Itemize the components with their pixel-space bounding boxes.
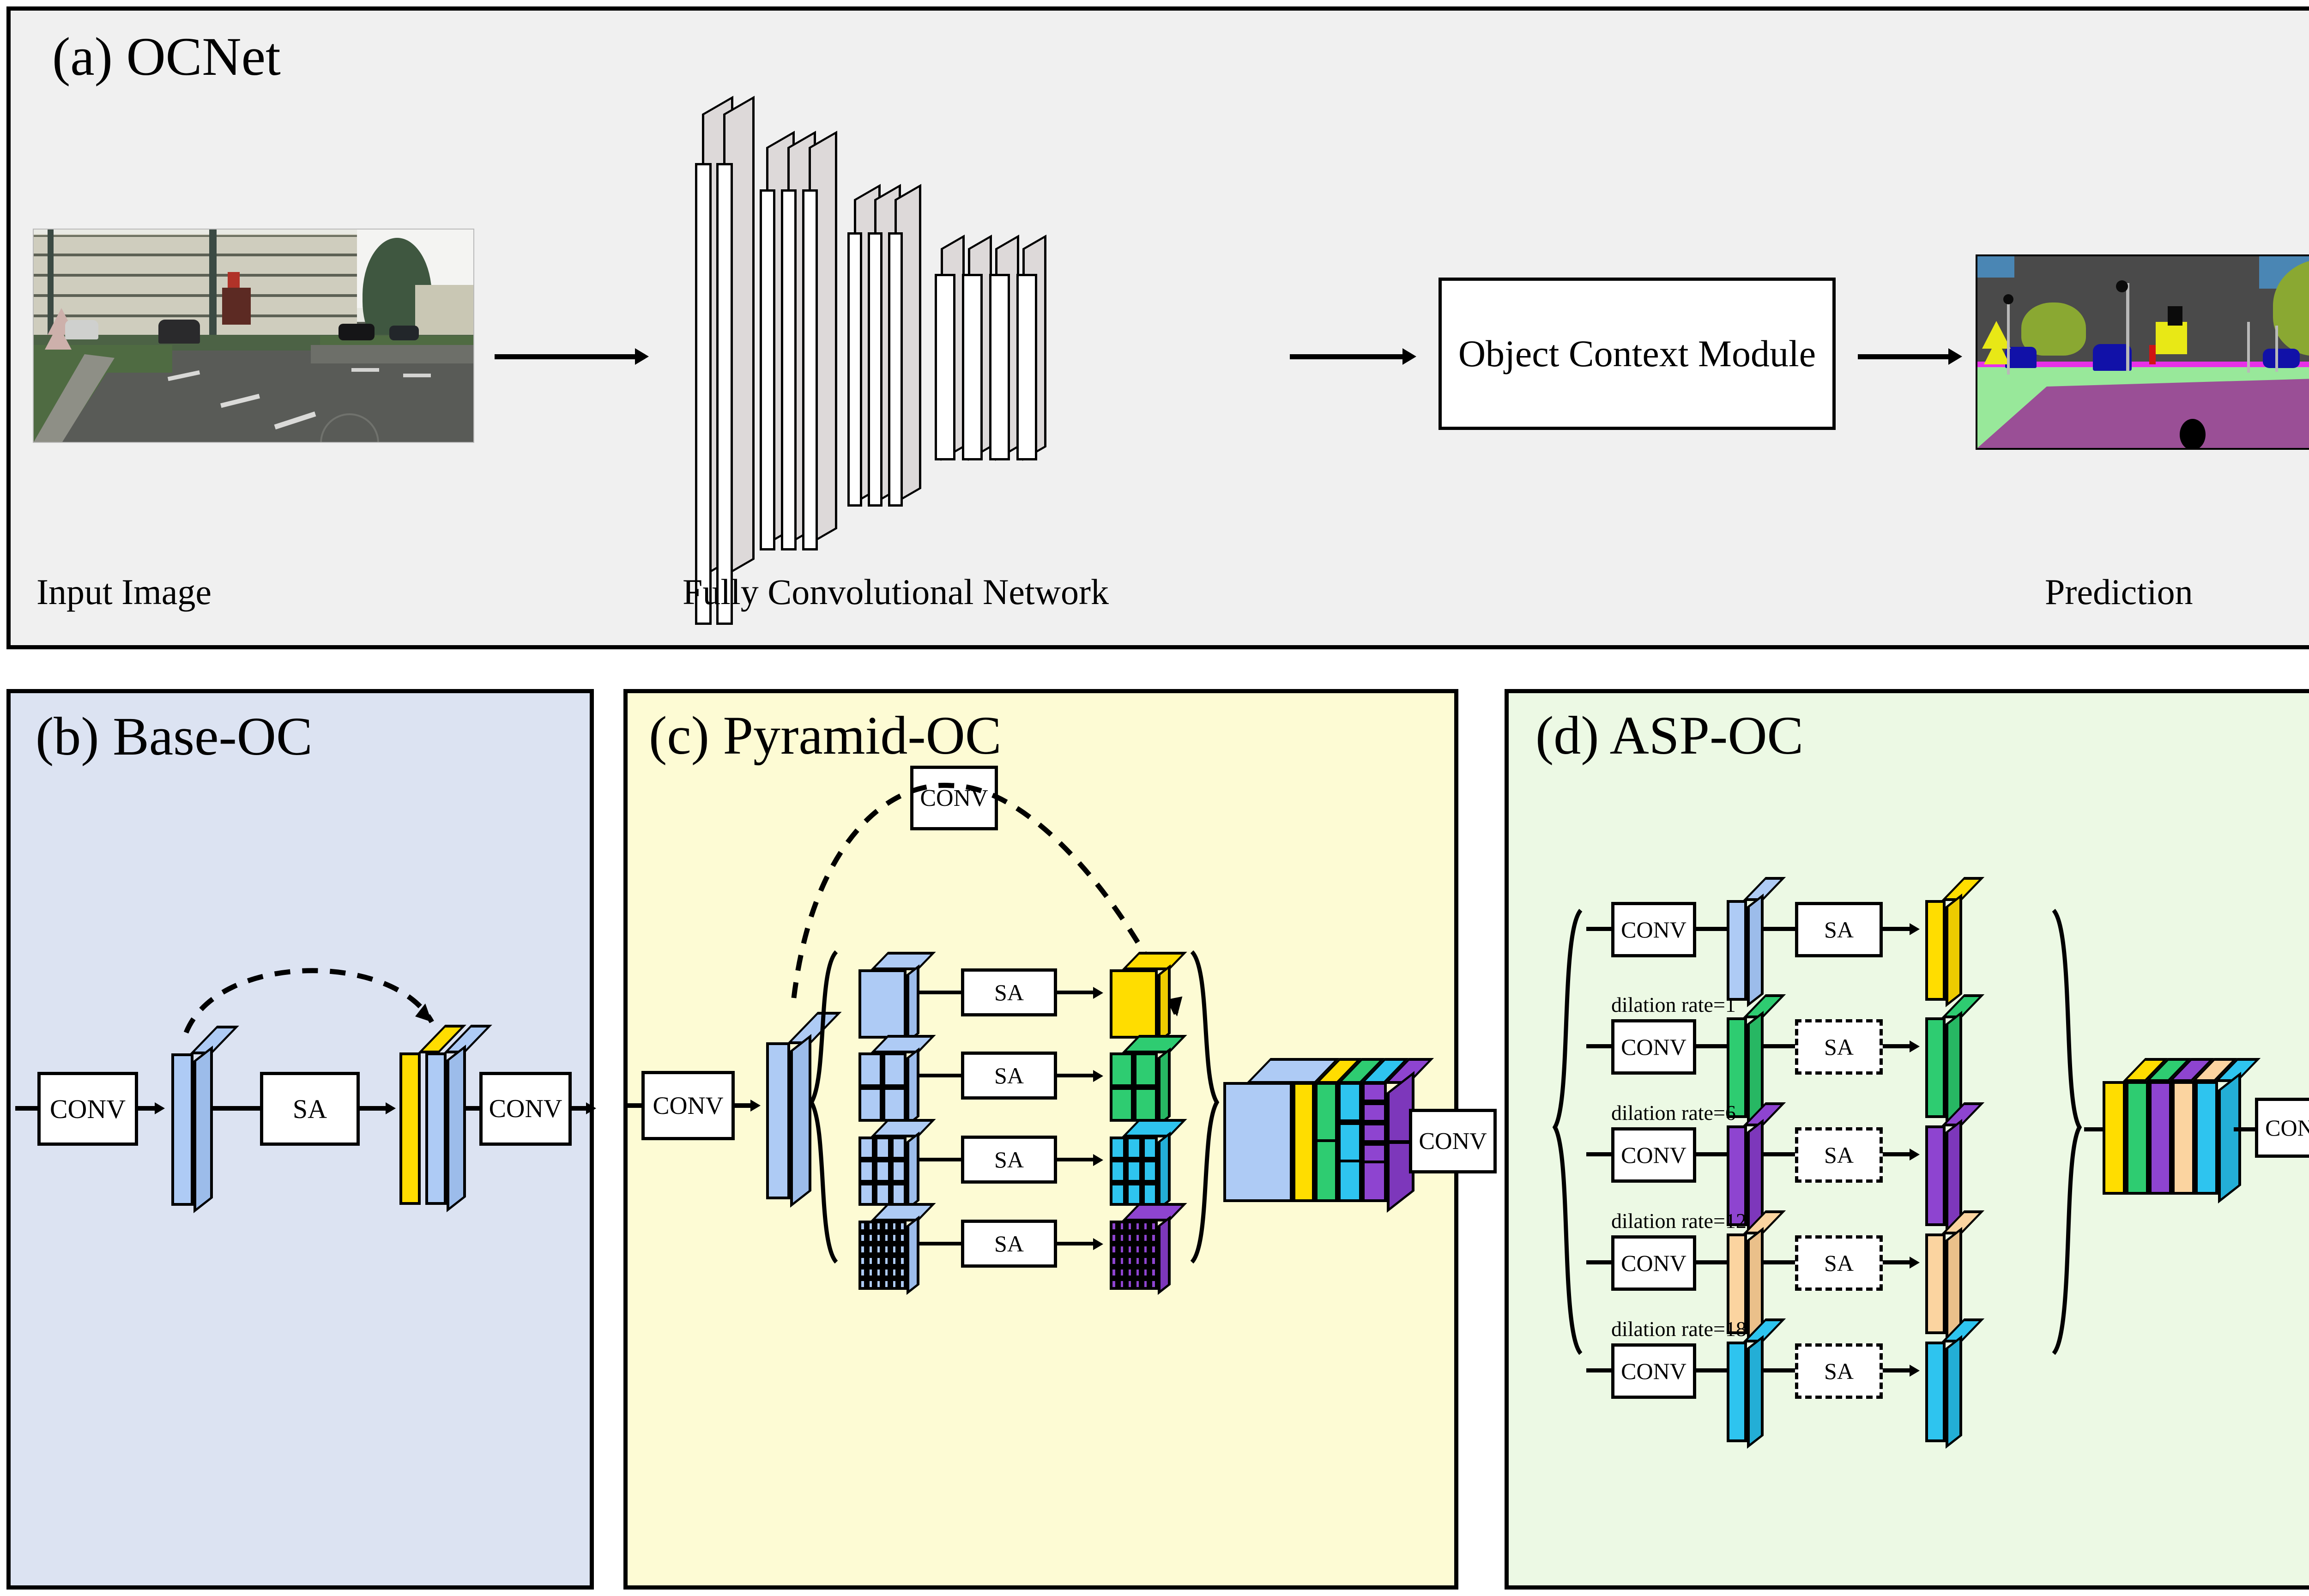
pyramid-branch2-sa[interactable]: SA	[961, 1052, 1057, 1100]
arrow-input-to-fcn-line	[495, 354, 638, 359]
fcn-slab-d1-face	[935, 274, 955, 460]
pyramid-oc-arrow-in-head	[750, 1100, 761, 1112]
pyramid-branch3-sa[interactable]: SA	[961, 1136, 1057, 1184]
asp-branch5-stub	[1586, 1368, 1613, 1372]
base-oc-arrow3-head	[386, 1102, 396, 1114]
asp-branch1-conv[interactable]: CONV	[1611, 902, 1696, 957]
fcn-slab-a2-face	[716, 163, 733, 625]
asp-branch3-head	[1910, 1149, 1920, 1161]
asp-branch2-sa[interactable]: SA	[1795, 1019, 1883, 1075]
pyramid-oc-left-brace	[811, 952, 836, 1262]
asp-branch4-sa-label: SA	[1824, 1250, 1854, 1276]
pyramid-oc-arrow-in-line	[735, 1103, 752, 1108]
arrow-ocm-to-pred-head	[1948, 348, 1962, 365]
pyramid-branch4-sa[interactable]: SA	[961, 1220, 1057, 1268]
asp-branch5-conv-label: CONV	[1621, 1358, 1686, 1384]
asp-branch2-sa-label: SA	[1824, 1034, 1854, 1060]
fcn-slab-c2-face	[868, 232, 882, 507]
panel-asp-oc: (d) ASP-OC CONV SA dilation rate=1 CONV …	[1505, 689, 2309, 1590]
asp-branch1-sa[interactable]: SA	[1795, 902, 1883, 957]
asp-branch2-conv-label: CONV	[1621, 1034, 1686, 1060]
asp-concat-in-line	[2084, 1127, 2103, 1131]
prediction-segmentation-map	[1976, 254, 2309, 450]
asp-oc-output-conv-label: CONV	[2265, 1114, 2309, 1141]
panel-ocnet: (a) OCNet Input Image	[6, 6, 2309, 649]
base-oc-conv1-label: CONV	[50, 1094, 126, 1124]
pyramid-branch1-line2	[1057, 991, 1095, 994]
asp-branch5-line3	[1883, 1368, 1911, 1372]
input-image-photo	[33, 229, 474, 443]
pyramid-branch2-line2	[1057, 1074, 1095, 1077]
asp-branch3-dilation-label: dilation rate=6	[1611, 1100, 1736, 1125]
pyramid-oc-input-stub	[628, 1103, 642, 1108]
panel-c-title: (c) Pyramid-OC	[649, 704, 1002, 767]
pyramid-oc-input-conv-label: CONV	[653, 1091, 723, 1120]
pyramid-branch2-sa-label: SA	[994, 1062, 1024, 1089]
pyramid-branch2-line1	[919, 1074, 963, 1077]
pyramid-branch4-sa-label: SA	[994, 1230, 1024, 1257]
pyramid-oc-output-conv-label: CONV	[1419, 1128, 1487, 1155]
base-oc-arrow3-line	[360, 1106, 387, 1111]
fcn-slab-c3-face	[888, 232, 903, 507]
pyramid-branch4-line2	[1057, 1242, 1095, 1245]
asp-branch1-line3	[1883, 927, 1911, 931]
fcn-slab-b2-face	[781, 189, 797, 550]
pyramid-branch1-head	[1093, 987, 1103, 999]
asp-branch2-dilation-label: dilation rate=1	[1611, 992, 1736, 1017]
asp-oc-left-brace	[1555, 910, 1581, 1354]
arrow-fcn-to-ocm-head	[1402, 348, 1416, 365]
fcn-slab-d2-face	[962, 274, 983, 460]
asp-branch3-stub	[1586, 1152, 1613, 1156]
asp-branch4-head	[1910, 1257, 1920, 1269]
fcn-slab-b3-face	[802, 189, 818, 550]
pyramid-oc-output-conv[interactable]: CONV	[1409, 1109, 1497, 1173]
asp-branch4-sa[interactable]: SA	[1795, 1235, 1883, 1291]
panel-a-title: (a) OCNet	[52, 25, 281, 88]
arrow-ocm-to-pred-line	[1858, 354, 1950, 359]
base-oc-input-stub	[15, 1106, 38, 1111]
base-oc-conv2-label: CONV	[489, 1094, 562, 1124]
pyramid-branch4-head	[1093, 1238, 1103, 1250]
asp-branch1-sa-label: SA	[1824, 916, 1854, 943]
base-oc-conv1[interactable]: CONV	[37, 1072, 138, 1146]
asp-branch3-sa-label: SA	[1824, 1142, 1854, 1168]
base-oc-skip-arc	[186, 971, 432, 1033]
asp-branch3-line2	[1764, 1152, 1797, 1156]
base-oc-sa-label: SA	[293, 1094, 327, 1124]
asp-branch4-line2	[1764, 1260, 1797, 1264]
asp-branch5-sa-label: SA	[1824, 1358, 1854, 1384]
panel-b-title: (b) Base-OC	[36, 705, 313, 768]
caption-prediction: Prediction	[2045, 571, 2193, 613]
asp-branch5-line2	[1764, 1368, 1797, 1372]
pyramid-branch1-line1	[919, 991, 963, 994]
fcn-slab-d3-face	[989, 274, 1010, 460]
base-oc-arrow1-head	[155, 1102, 165, 1114]
asp-branch2-line3	[1883, 1044, 1911, 1048]
asp-branch2-line2	[1764, 1044, 1797, 1048]
pyramid-branch3-head	[1093, 1154, 1103, 1166]
pyramid-branch3-line2	[1057, 1158, 1095, 1161]
base-oc-sa[interactable]: SA	[260, 1072, 360, 1146]
asp-branch3-sa[interactable]: SA	[1795, 1127, 1883, 1183]
pyramid-oc-top-conv-label: CONV	[920, 785, 988, 812]
pyramid-oc-concat-out-line	[1387, 1140, 1412, 1144]
arrow-fcn-to-ocm-line	[1290, 354, 1405, 359]
caption-input-image: Input Image	[36, 571, 212, 613]
base-oc-arrow2-line	[213, 1106, 264, 1111]
pyramid-branch1-sa[interactable]: SA	[961, 968, 1057, 1016]
asp-branch4-conv[interactable]: CONV	[1611, 1235, 1696, 1291]
arrow-input-to-fcn-head	[635, 348, 649, 365]
pyramid-oc-right-brace	[1192, 952, 1217, 1262]
asp-branch5-conv[interactable]: CONV	[1611, 1343, 1696, 1399]
panel-d-title: (d) ASP-OC	[1535, 704, 1803, 767]
asp-branch1-conv-label: CONV	[1621, 916, 1686, 943]
asp-oc-output-conv[interactable]: CONV	[2255, 1098, 2309, 1158]
pyramid-branch4-line1	[919, 1242, 963, 1245]
fcn-slab-a1-face	[695, 163, 712, 625]
asp-branch2-head	[1910, 1040, 1920, 1052]
asp-concat-out-line	[2234, 1127, 2258, 1131]
asp-branch1-head	[1910, 923, 1920, 935]
asp-branch3-line3	[1883, 1152, 1911, 1156]
pyramid-branch3-sa-label: SA	[994, 1146, 1024, 1173]
base-oc-arrow4-line	[463, 1106, 482, 1111]
asp-branch4-line3	[1883, 1260, 1911, 1264]
asp-branch4-stub	[1586, 1260, 1613, 1264]
base-oc-output-head	[586, 1102, 596, 1114]
asp-branch5-dilation-label: dilation rate=18	[1611, 1317, 1747, 1341]
object-context-module-box[interactable]: Object Context Module	[1439, 278, 1836, 430]
pyramid-branch3-line1	[919, 1158, 963, 1161]
asp-branch3-conv-label: CONV	[1621, 1142, 1686, 1168]
fcn-slab-d4-face	[1016, 274, 1037, 460]
pyramid-branch1-sa-label: SA	[994, 979, 1024, 1006]
caption-fcn: Fully Convolutional Network	[683, 571, 1109, 613]
pyramid-oc-input-conv[interactable]: CONV	[641, 1071, 735, 1140]
asp-branch1-stub	[1586, 927, 1613, 931]
object-context-module-label: Object Context Module	[1458, 332, 1816, 375]
asp-branch4-dilation-label: dilation rate=12	[1611, 1209, 1747, 1233]
base-oc-skip-arrow-head	[415, 1004, 432, 1022]
panel-base-oc: (b) Base-OC CONV SA CONV	[6, 689, 594, 1590]
asp-branch4-conv-label: CONV	[1621, 1250, 1686, 1276]
asp-branch2-conv[interactable]: CONV	[1611, 1019, 1696, 1075]
asp-branch2-stub	[1586, 1044, 1613, 1048]
pyramid-branch2-head	[1093, 1070, 1103, 1082]
base-oc-conv2[interactable]: CONV	[479, 1072, 572, 1146]
fcn-slab-c1-face	[847, 232, 862, 507]
asp-branch5-sa[interactable]: SA	[1795, 1343, 1883, 1399]
asp-branch5-head	[1910, 1365, 1920, 1377]
pyramid-oc-top-conv[interactable]: CONV	[910, 766, 998, 830]
asp-branch3-conv[interactable]: CONV	[1611, 1127, 1696, 1183]
asp-branch1-line2	[1764, 927, 1797, 931]
base-oc-arrow1-line	[138, 1106, 157, 1111]
panel-pyramid-oc: (c) Pyramid-OC CONV CONV SA	[623, 689, 1458, 1590]
fcn-slab-b1-face	[760, 189, 775, 550]
asp-oc-right-brace	[2054, 910, 2079, 1354]
